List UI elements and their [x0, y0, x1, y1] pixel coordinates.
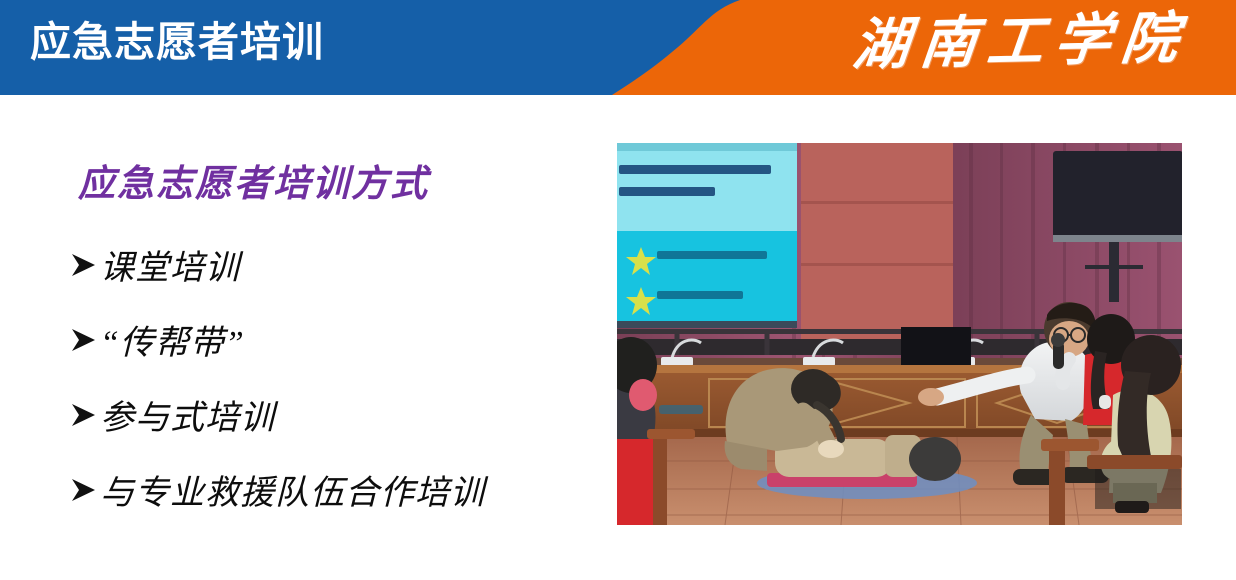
section-heading: 应急志愿者培训方式 [78, 153, 429, 207]
triangle-bullet-icon [68, 250, 98, 280]
list-item: 课堂培训 [68, 227, 617, 302]
list-item-label: 与专业救援队伍合作培训 [100, 465, 485, 514]
header-banner: 应急志愿者培训 湖南工学院 [0, 0, 1236, 95]
list-item-label: 参与式培训 [100, 390, 275, 439]
list-item-label: “传帮带” [100, 315, 245, 364]
cpr-training-photo [617, 143, 1182, 525]
triangle-bullet-icon [68, 475, 98, 505]
list-item: “传帮带” [68, 302, 617, 377]
page-title: 应急志愿者培训 [30, 14, 324, 70]
university-logo-text: 湖南工学院 [849, 0, 1193, 87]
slide-content-left: 应急志愿者培训方式 课堂培训 “传帮带” 参与式培训 与专业救援队伍合作培训 [0, 95, 617, 580]
triangle-bullet-icon [68, 400, 98, 430]
triangle-bullet-icon [68, 325, 98, 355]
list-item-label: 课堂培训 [100, 240, 240, 289]
photo-illustration [617, 143, 1182, 525]
list-item: 参与式培训 [68, 377, 617, 452]
list-item: 与专业救援队伍合作培训 [68, 452, 617, 527]
training-method-list: 课堂培训 “传帮带” 参与式培训 与专业救援队伍合作培训 [68, 227, 617, 527]
